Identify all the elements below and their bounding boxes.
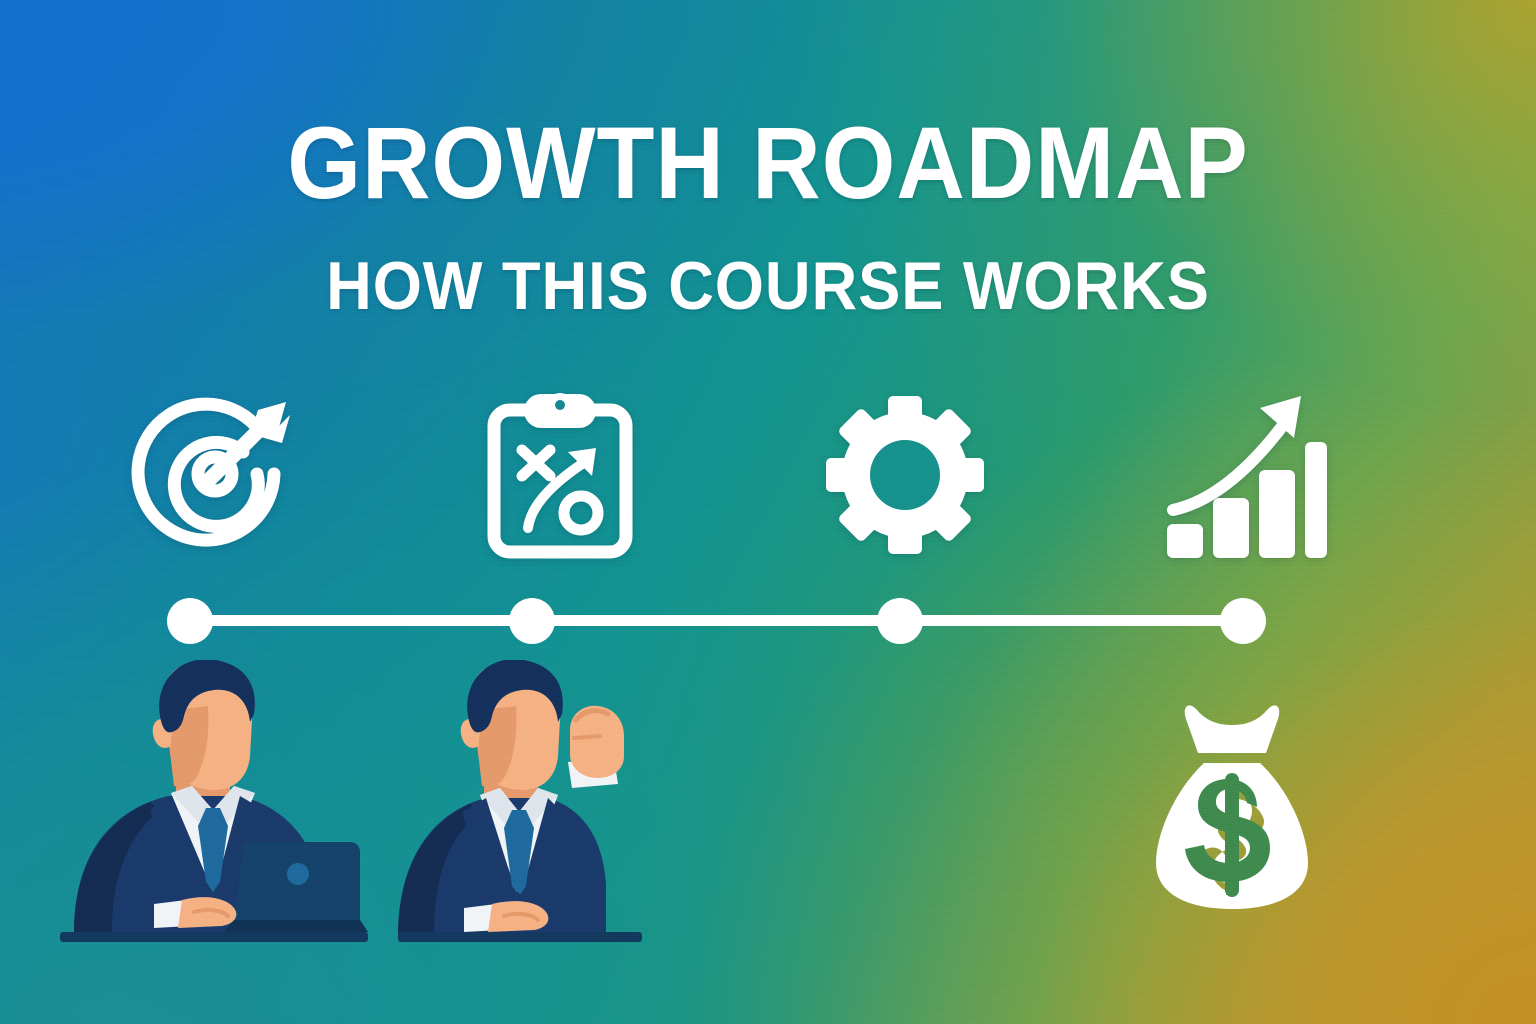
businessman-at-laptop	[58, 660, 368, 950]
growth-chart-icon	[1150, 380, 1340, 570]
timeline	[180, 598, 1255, 644]
bottom-scene	[0, 660, 1536, 960]
money-bag-icon	[1152, 695, 1312, 915]
timeline-node-1[interactable]	[167, 598, 213, 644]
timeline-node-2[interactable]	[509, 598, 555, 644]
timeline-node-3[interactable]	[877, 598, 923, 644]
slide-canvas: GROWTH ROADMAP HOW THIS COURSE WORKS	[0, 0, 1536, 1024]
businessman-raised-fist	[392, 660, 642, 950]
clipboard-strategy-icon	[465, 380, 655, 570]
target-arrow-icon	[120, 380, 310, 570]
timeline-node-4[interactable]	[1220, 598, 1266, 644]
timeline-track	[190, 615, 1245, 626]
heading-block: GROWTH ROADMAP HOW THIS COURSE WORKS	[0, 112, 1536, 320]
icon-row	[110, 380, 1350, 570]
page-subtitle: HOW THIS COURSE WORKS	[54, 252, 1482, 320]
page-title: GROWTH ROADMAP	[54, 112, 1482, 214]
gear-icon	[810, 380, 1000, 570]
